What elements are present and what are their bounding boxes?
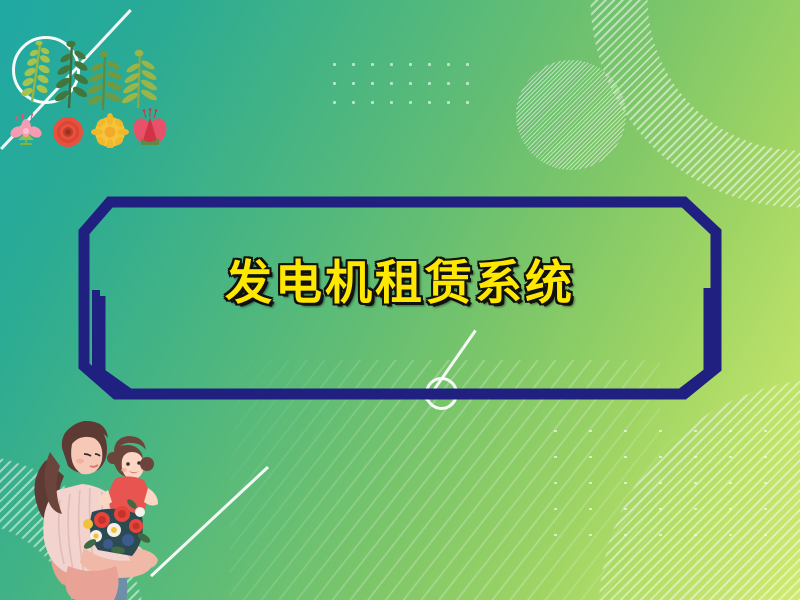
page-title: 发电机租赁系统 — [225, 258, 575, 310]
olive-branch-icon — [53, 41, 89, 108]
dot-grid-bottom — [538, 418, 783, 550]
people-illustration — [10, 408, 180, 600]
wheat-sprig-icon — [20, 41, 51, 102]
title-block: 发电机租赁系统 — [0, 258, 800, 310]
yellow-daisy-icon — [91, 113, 129, 148]
dot-grid-top — [325, 55, 477, 107]
red-rose-icon — [53, 117, 83, 147]
red-tulip-icon — [130, 108, 169, 146]
striped-arc-shape — [590, 0, 800, 208]
pink-blossom-icon — [8, 113, 43, 144]
palm-frond-icon — [121, 50, 159, 108]
fern-leaf-icon — [86, 51, 123, 110]
striped-circle-shape — [516, 60, 626, 170]
botanical-illustration — [2, 18, 172, 153]
slide-canvas: 发电机租赁系统 — [0, 0, 800, 600]
